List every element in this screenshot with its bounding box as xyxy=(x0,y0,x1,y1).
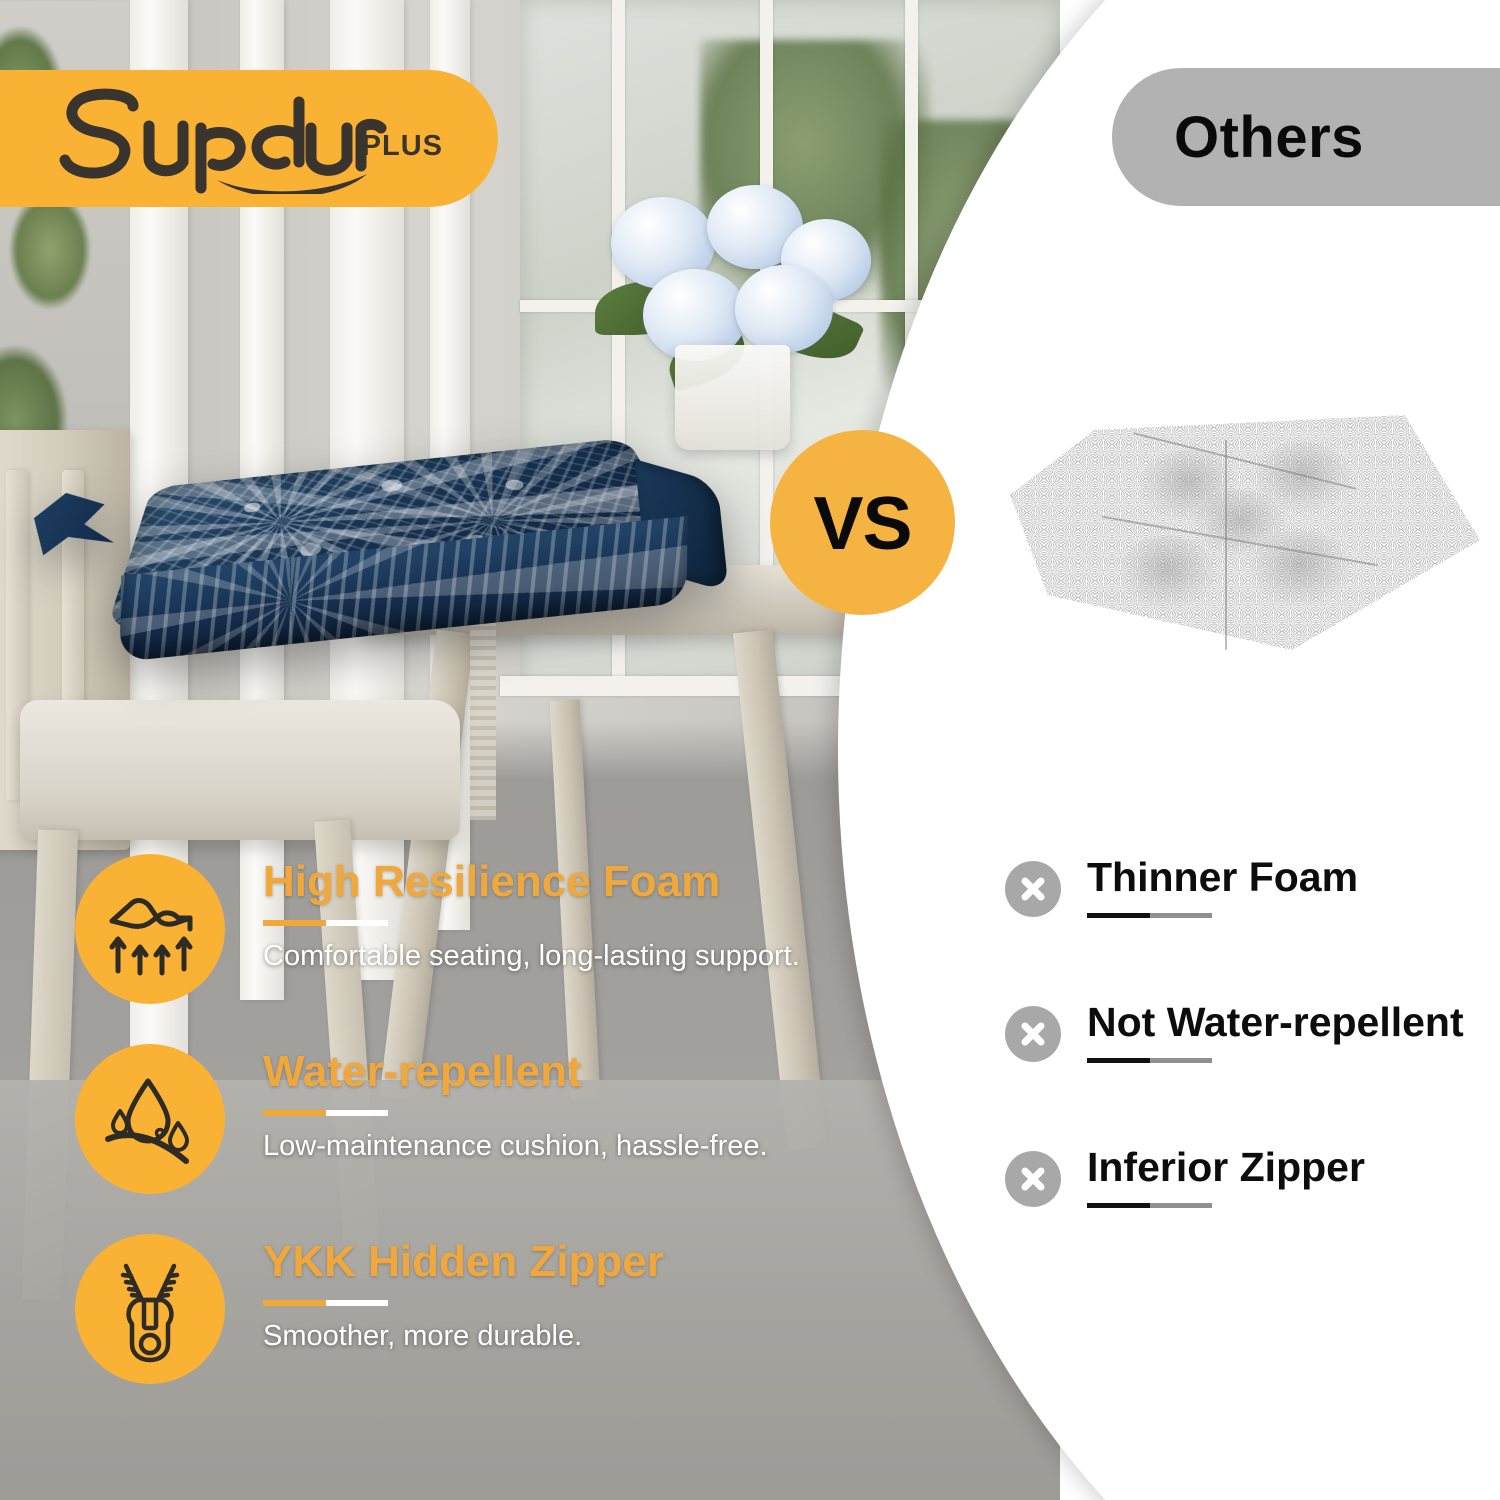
con-text: Thinner Foam xyxy=(1087,855,1487,918)
con-title: Inferior Zipper xyxy=(1087,1145,1487,1190)
zipper-glyph xyxy=(98,1254,202,1364)
feature-item: High Resilience Foam Comfortable seating… xyxy=(75,850,835,1040)
feature-desc: Comfortable seating, long-lasting suppor… xyxy=(263,938,833,974)
vs-label: VS xyxy=(813,480,911,566)
feature-divider xyxy=(263,1110,388,1116)
vs-badge: VS xyxy=(770,430,955,615)
brand-suffix: PLUS xyxy=(362,130,443,163)
feature-text: High Resilience Foam Comfortable seating… xyxy=(263,858,833,975)
infographic-canvas: PLUS Others VS xyxy=(0,0,1500,1500)
con-text: Not Water-repellent xyxy=(1087,1000,1487,1063)
feature-divider xyxy=(263,920,388,926)
x-circle-icon xyxy=(1005,1006,1061,1062)
feature-title: YKK Hidden Zipper xyxy=(263,1238,833,1286)
hand-on-foam-glyph xyxy=(98,877,202,981)
x-circle-icon xyxy=(1005,1151,1061,1207)
logo-swoosh-icon xyxy=(217,174,367,194)
feature-divider xyxy=(263,1300,388,1306)
others-header-pill: Others xyxy=(1112,68,1500,206)
product-image-others-cushion xyxy=(1010,390,1500,690)
con-title: Thinner Foam xyxy=(1087,855,1487,900)
feature-title: High Resilience Foam xyxy=(263,858,833,906)
x-mark-glyph xyxy=(1016,1017,1050,1051)
x-mark-glyph xyxy=(1016,872,1050,906)
feature-item: Water-repellent Low-maintenance cushion,… xyxy=(75,1040,835,1230)
con-item: Thinner Foam xyxy=(1005,855,1485,1000)
feature-text: Water-repellent Low-maintenance cushion,… xyxy=(263,1048,833,1165)
con-item: Inferior Zipper xyxy=(1005,1145,1485,1290)
feature-desc: Smoother, more durable. xyxy=(263,1318,833,1354)
cons-list: Thinner Foam Not Water-repellent xyxy=(1005,855,1485,1290)
con-text: Inferior Zipper xyxy=(1087,1145,1487,1208)
hand-on-foam-icon xyxy=(75,854,225,1004)
x-circle-icon xyxy=(1005,861,1061,917)
con-divider xyxy=(1087,1203,1212,1208)
feature-desc: Low-maintenance cushion, hassle-free. xyxy=(263,1128,833,1164)
con-divider xyxy=(1087,1058,1212,1063)
brand-logo: PLUS xyxy=(49,84,449,194)
con-title: Not Water-repellent xyxy=(1087,1000,1487,1045)
con-divider xyxy=(1087,913,1212,918)
x-mark-glyph xyxy=(1016,1162,1050,1196)
hydrangea-bloom xyxy=(735,265,833,353)
water-droplet-icon xyxy=(75,1044,225,1194)
gray-cushion-tuft xyxy=(1120,535,1216,609)
feature-item: YKK Hidden Zipper Smoother, more durable… xyxy=(75,1230,835,1420)
brand-logo-pill: PLUS xyxy=(0,70,498,207)
zipper-icon xyxy=(75,1234,225,1384)
product-image-supdur-cushion xyxy=(60,317,741,713)
water-repellent-glyph xyxy=(98,1067,202,1171)
others-label: Others xyxy=(1174,104,1364,171)
gray-cushion-tuft xyxy=(1195,490,1285,556)
con-item: Not Water-repellent xyxy=(1005,1000,1485,1145)
feature-list: High Resilience Foam Comfortable seating… xyxy=(75,850,835,1420)
chair-seat-cushion xyxy=(20,700,460,840)
feature-text: YKK Hidden Zipper Smoother, more durable… xyxy=(263,1238,833,1355)
feature-title: Water-repellent xyxy=(263,1048,833,1096)
